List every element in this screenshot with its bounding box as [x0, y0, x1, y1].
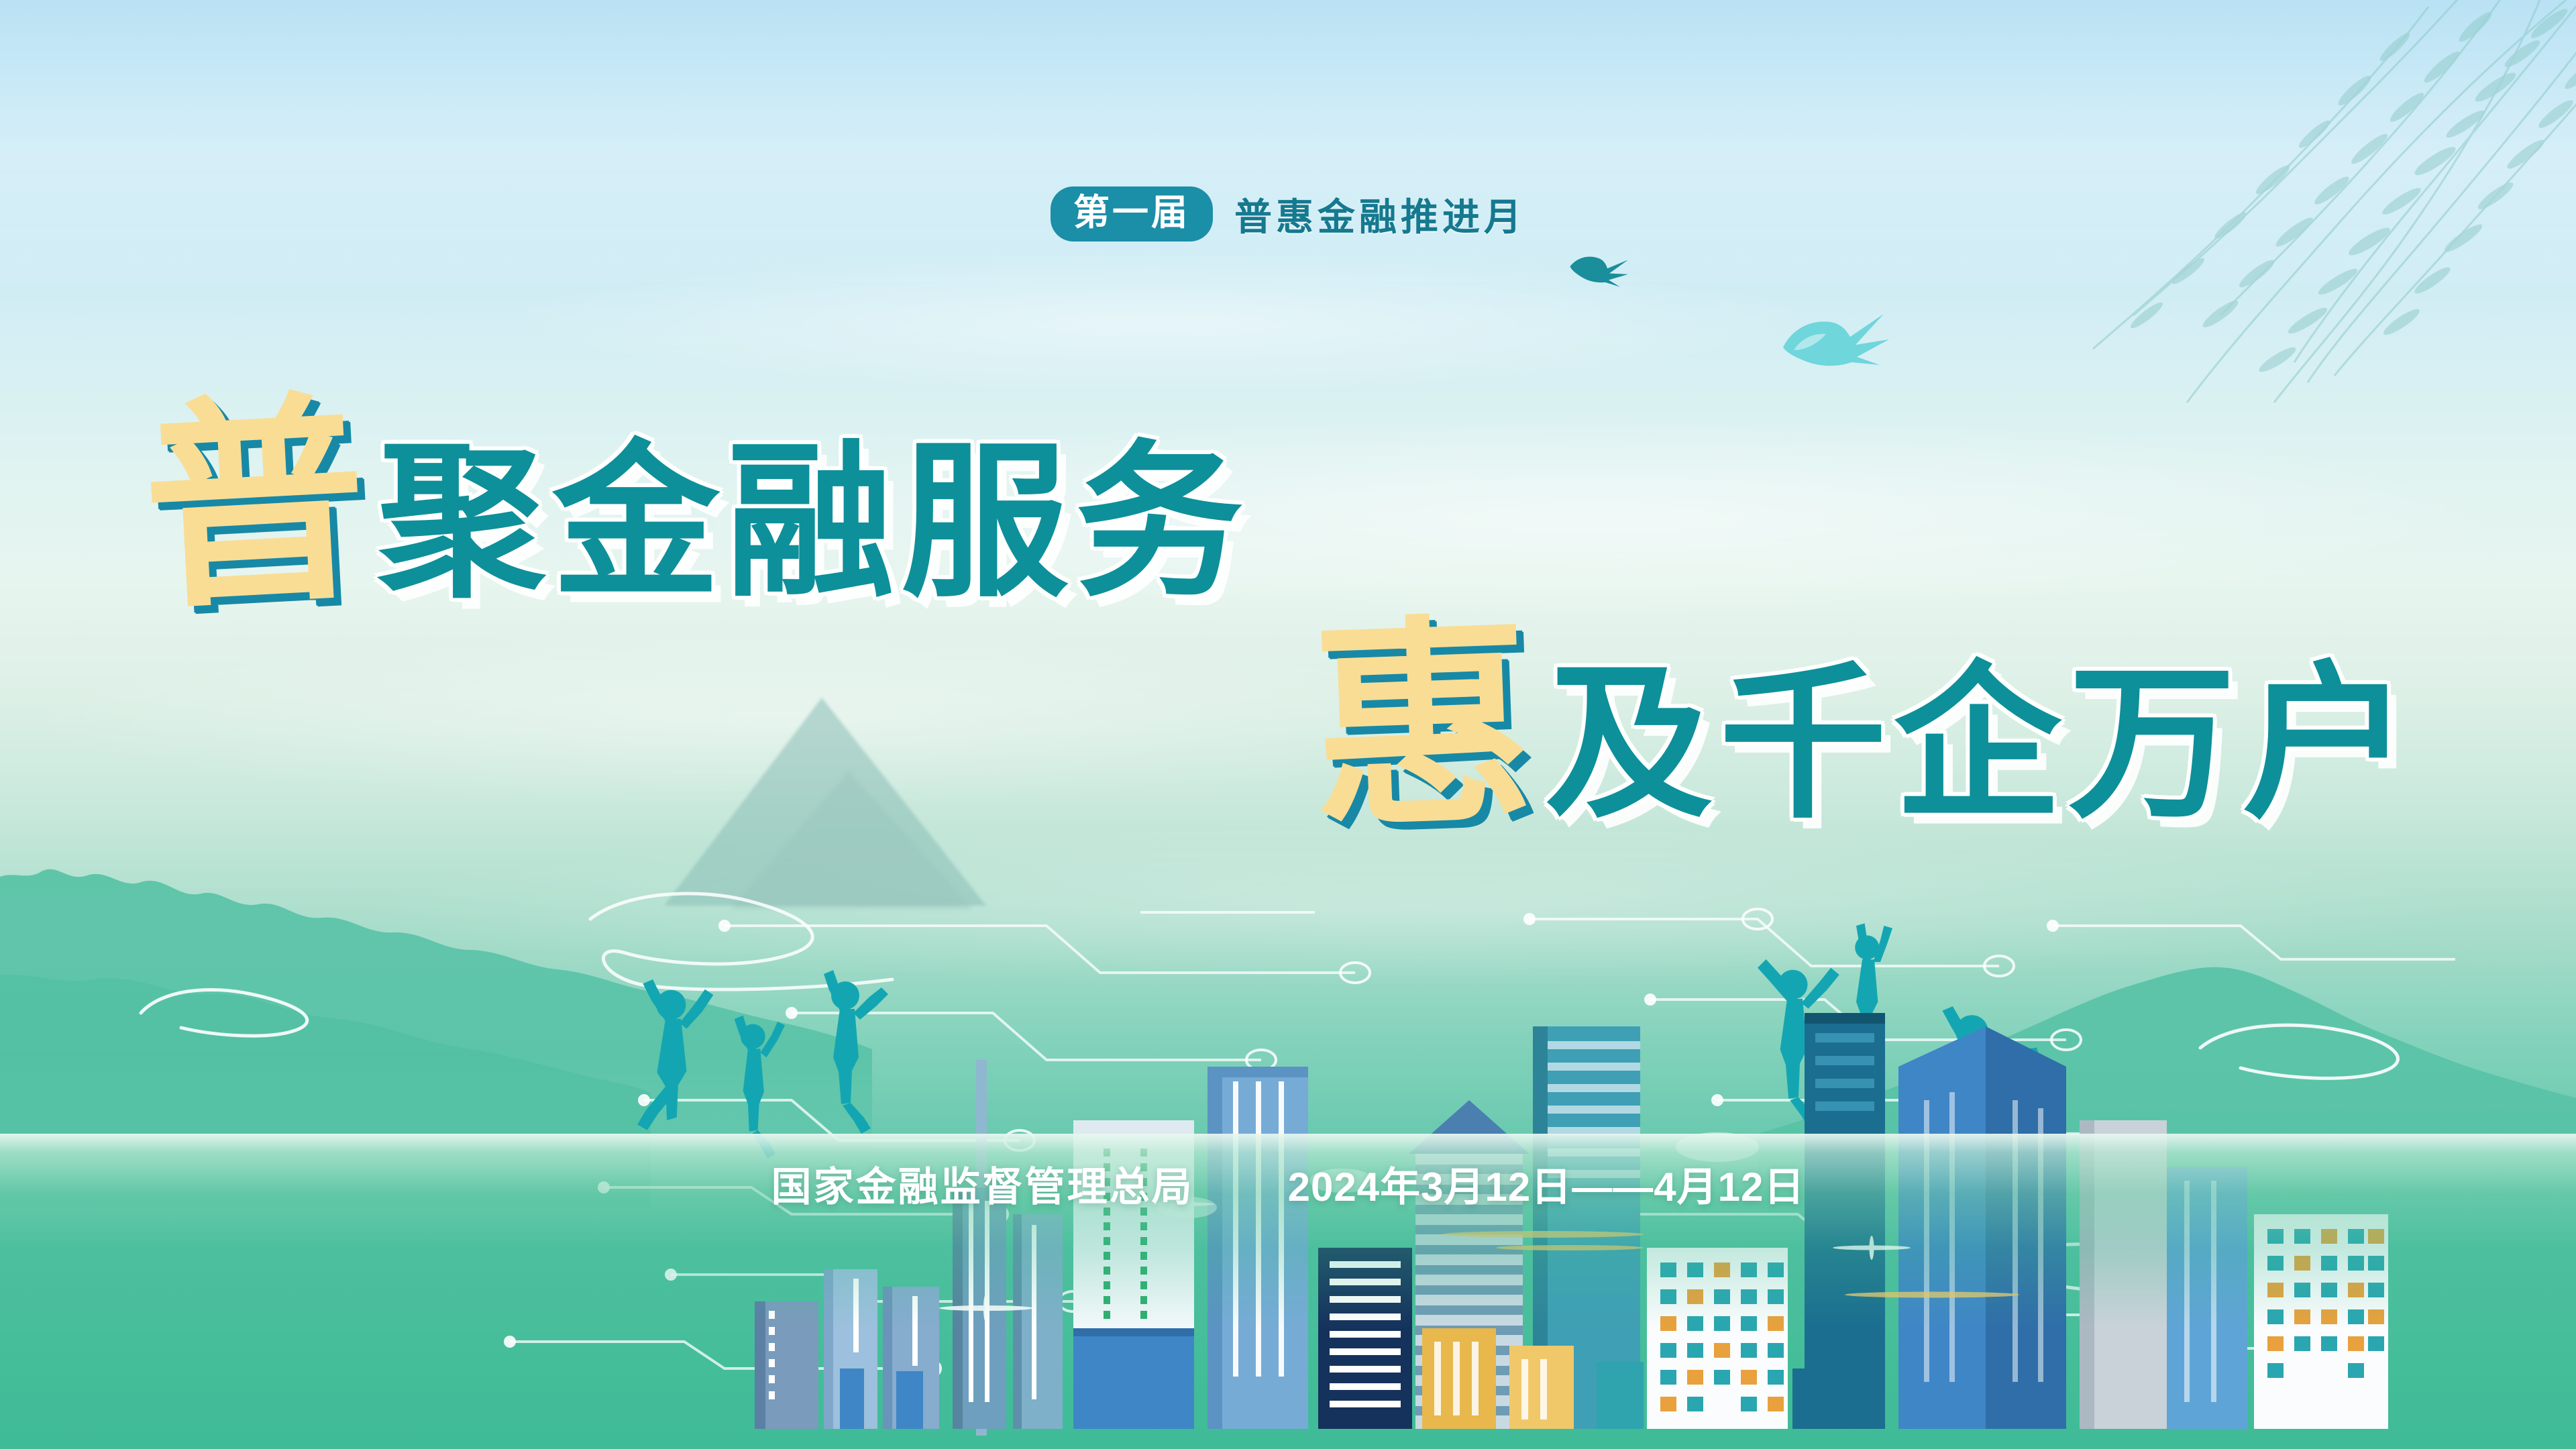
jumping-people-left: [637, 970, 888, 1159]
header: 第一届 普惠金融推进月: [0, 186, 2576, 241]
cloud-band: [0, 590, 2576, 845]
cloud-band: [0, 792, 2576, 1020]
edition-badge: 第一届: [1051, 186, 1213, 241]
bird-icon: [1558, 237, 1649, 310]
cloud-band: [0, 376, 2576, 657]
headline-line-1: 普 聚金融服务: [144, 402, 1250, 606]
brush-char-pu: 普: [139, 397, 370, 612]
brush-char-hui: 惠: [1308, 620, 1536, 831]
poster-banner: 第一届 普惠金融推进月 普 聚金融服务 惠 及千企万户: [0, 0, 2576, 1449]
headline-line-2: 惠 及千企万户: [1311, 624, 2417, 828]
mountain-silhouette: [731, 771, 973, 909]
footer: 国家金融监督管理总局 2024年3月12日——4月12日: [0, 1155, 2576, 1213]
headline-line-1-text: 聚金融服务: [378, 439, 1250, 606]
swirl-decoration: [2180, 1006, 2462, 1097]
swirl-decoration: [134, 966, 416, 1050]
headline-line-2-text: 及千企万户: [1545, 660, 2417, 828]
footer-date-range: 2024年3月12日——4月12日: [1288, 1155, 1805, 1213]
header-title: 普惠金融推进月: [1234, 187, 1525, 241]
cloud-band: [0, 221, 2576, 423]
bird-icon: [1771, 295, 1919, 399]
footer-organization: 国家金融监督管理总局: [771, 1155, 1194, 1213]
